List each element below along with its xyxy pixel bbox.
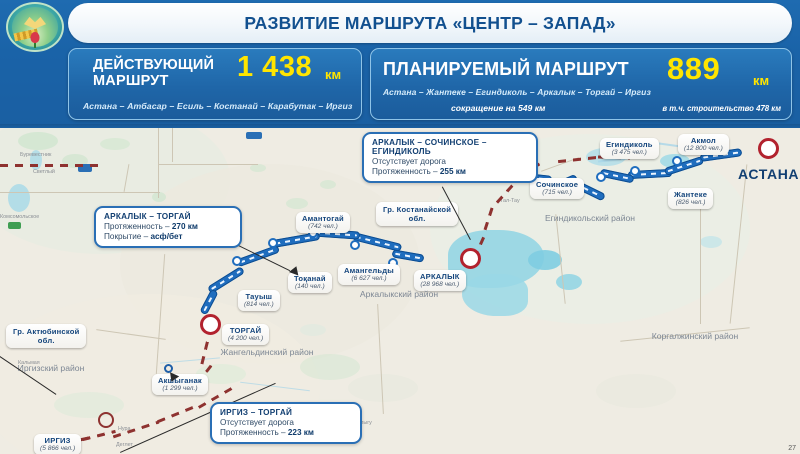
city-tag-amantogay: Амантогай (742 чел.): [296, 212, 350, 233]
node-route: [596, 172, 606, 182]
callout-line-1-value: 270 км: [172, 222, 198, 231]
existing-route-label: ДЕЙСТВУЮЩИЙ МАРШРУТ: [93, 57, 233, 89]
city-name: Амантогай: [302, 214, 344, 223]
region-label-arkalyk: Аркалыкский район: [354, 290, 444, 300]
lake: [700, 236, 722, 248]
vegetation-patch: [300, 354, 360, 380]
lake: [462, 274, 528, 316]
region-label-zhangeldy: Жангельдинский район: [212, 348, 322, 358]
secondary-road: [172, 124, 173, 162]
kazakhstan-emblem-icon: [6, 2, 64, 52]
vegetation-patch: [18, 132, 58, 150]
existing-route-value: 1 438: [237, 51, 312, 84]
region-name: Иргизский район: [18, 363, 85, 373]
callout-line-2: Протяженность – 223 км: [220, 428, 352, 437]
small-place-label: Тал-Тау: [500, 198, 520, 204]
city-population: (28 968 чел.): [420, 281, 460, 288]
page-number: 27: [788, 445, 796, 452]
region-name: Аркалыкский район: [360, 289, 438, 299]
secondary-road: [0, 192, 160, 193]
city-population: (1 299 чел.): [158, 385, 202, 392]
boundary-line-1: Гр. Актюбинской: [13, 327, 79, 336]
lake: [8, 184, 30, 212]
boundary-line-2: обл.: [13, 336, 79, 345]
node-irgiz: [98, 412, 114, 428]
city-name: Амангельды: [344, 266, 394, 275]
node-akshyganak: [164, 364, 173, 373]
planned-route-reduction: сокращение на 549 км: [451, 103, 545, 113]
route-segment-dashed: [0, 164, 58, 167]
vegetation-patch: [100, 138, 130, 150]
callout-line-1-prefix: Протяженность –: [104, 222, 172, 231]
boundary-tag-kostanay: Гр. Костанайской обл.: [376, 202, 458, 226]
boundary-tag-aktobe: Гр. Актюбинской обл.: [6, 324, 86, 348]
city-tag-torgay: ТОРГАЙ (4 200 чел.): [222, 324, 269, 345]
city-population: (4 200 чел.): [228, 335, 263, 342]
lake: [528, 250, 562, 270]
city-name: АРКАЛЫК: [420, 272, 460, 281]
city-tag-akshyganak: Акшыганак (1 299 чел.): [152, 374, 208, 395]
city-name: Акшыганак: [158, 376, 202, 385]
callout-line-2-value: 255 км: [440, 167, 466, 176]
node-route: [672, 156, 682, 166]
callout-line-1: Отсутствует дорога: [372, 157, 528, 166]
callout-line-2-value: 223 км: [288, 428, 314, 437]
planned-route-unit: км: [753, 73, 769, 88]
vegetation-patch: [286, 198, 308, 209]
planned-route-label: ПЛАНИРУЕМЫЙ МАРШРУТ: [383, 59, 629, 79]
city-population: (826 чел.): [674, 199, 707, 206]
city-population: (3 475 чел.): [606, 149, 653, 156]
node-torgay: [200, 314, 221, 335]
planned-route-value: 889: [667, 51, 720, 87]
small-place-label: Светлый: [33, 169, 55, 175]
city-name: Егиндиколь: [606, 140, 653, 149]
page-title-plate: РАЗВИТИЕ МАРШРУТА «ЦЕНТР – ЗАПАД»: [68, 3, 792, 43]
city-tag-tauysh: Тауыш (814 чел.): [238, 290, 280, 311]
planned-route-construction: в т.ч. строительство 478 км: [662, 104, 781, 113]
callout-title: АРКАЛЫК – ТОРГАЙ: [104, 212, 232, 221]
boundary-line-1: Гр. Костанайской: [383, 205, 451, 214]
city-tag-arkalyk: АРКАЛЫК (28 968 чел.): [414, 270, 466, 291]
city-tag-egindikol: Егиндиколь (3 475 чел.): [600, 138, 659, 159]
header-banner: РАЗВИТИЕ МАРШРУТА «ЦЕНТР – ЗАПАД» ДЕЙСТВ…: [0, 0, 800, 128]
callout-line-2: Покрытие – асф/бет: [104, 232, 232, 241]
route-segment-dashed: [60, 164, 100, 167]
city-tag-irgiz: ИРГИЗ (5 866 чел.): [34, 434, 81, 454]
callout-title: ИРГИЗ – ТОРГАЙ: [220, 408, 352, 417]
city-tag-akmol: Акмол (12 800 чел.): [678, 134, 729, 155]
callout-line-1: Протяженность – 270 км: [104, 222, 232, 231]
node-arkalyk: [460, 248, 481, 269]
city-name: Тоқанай: [294, 274, 326, 283]
city-population: (5 866 чел.): [40, 445, 75, 452]
capital-label: АСТАНА: [738, 166, 799, 182]
city-population: (742 чел.): [302, 223, 344, 230]
lake: [556, 274, 582, 290]
page-title: РАЗВИТИЕ МАРШРУТА «ЦЕНТР – ЗАПАД»: [244, 13, 615, 34]
region-label-egindikol: Егиндикольский район: [540, 214, 640, 224]
terrain-patch: [300, 324, 326, 336]
region-name: Жангельдинский район: [221, 347, 314, 357]
vegetation-patch: [152, 192, 166, 202]
callout-line-2-value: асф/бет: [150, 232, 182, 241]
city-name: ИРГИЗ: [40, 436, 75, 445]
callout-line-2-prefix: Покрытие –: [104, 232, 150, 241]
secondary-road: [158, 164, 258, 165]
city-name: ТОРГАЙ: [228, 326, 263, 335]
city-population: (814 чел.): [244, 301, 274, 308]
node-egindikol: [630, 166, 640, 176]
callout-line-1: Отсутствует дорога: [220, 418, 352, 427]
secondary-road: [700, 194, 701, 324]
city-population: (140 чел.): [294, 283, 326, 290]
existing-route-unit: км: [325, 67, 341, 82]
city-tag-amangeldy: Амангельды (6 627 чел.): [338, 264, 400, 285]
region-name: Егиндикольский район: [545, 213, 635, 223]
map-canvas: Буревестник Светлый Комсомольское Кальма…: [0, 124, 800, 454]
city-name: Сочинское: [536, 180, 578, 189]
city-tag-zhanteke: Жантеке (826 чел.): [668, 188, 713, 209]
callout-title-2: ЕГИНДИКОЛЬ: [372, 147, 528, 156]
existing-route-card: ДЕЙСТВУЮЩИЙ МАРШРУТ 1 438 км Астана – Ат…: [68, 48, 362, 120]
city-name: Тауыш: [244, 292, 274, 301]
node-astana: [758, 138, 779, 159]
terrain-patch: [596, 374, 676, 408]
region-label-korgalzhyn: Коргалжинский район: [640, 332, 750, 342]
node-tokanay: [268, 238, 278, 248]
secondary-road: [158, 124, 159, 198]
city-population: (715 чел.): [536, 189, 578, 196]
city-population: (12 800 чел.): [684, 145, 723, 152]
callout-line-2: Протяженность – 255 км: [372, 167, 528, 176]
callout-title: АРКАЛЫК – СОЧИНСКОЕ –: [372, 138, 528, 147]
small-place-label: Комсомольское: [0, 214, 39, 220]
city-name: Жантеке: [674, 190, 707, 199]
planned-route-card: ПЛАНИРУЕМЫЙ МАРШРУТ 889 км Астана – Жант…: [370, 48, 792, 120]
city-tag-sochinskoe: Сочинское (715 чел.): [530, 178, 584, 199]
emblem-tulip-icon: [31, 32, 40, 43]
vegetation-patch: [320, 180, 336, 189]
small-place-label: Буревестник: [20, 152, 51, 158]
callout-line-2-prefix: Протяженность –: [372, 167, 440, 176]
node-amangeldy: [350, 240, 360, 250]
city-population: (6 627 чел.): [344, 275, 394, 282]
road-shield-icon: [246, 132, 262, 139]
callout-irgiz-torgai: ИРГИЗ – ТОРГАЙ Отсутствует дорога Протяж…: [210, 402, 362, 444]
node-tauysh: [232, 256, 242, 266]
infographic-slide: Буревестник Светлый Комсомольское Кальма…: [0, 0, 800, 454]
planned-route-path: Астана – Жантеке – Егиндиколь – Аркалык …: [383, 87, 651, 97]
callout-line-2-prefix: Протяженность –: [220, 428, 288, 437]
boundary-line-2: обл.: [383, 214, 451, 223]
region-name: Коргалжинский район: [652, 331, 739, 341]
existing-route-path: Астана – Атбасар – Есиль – Костанай – Ка…: [83, 101, 352, 111]
city-tag-tokanay: Тоқанай (140 чел.): [288, 272, 332, 293]
callout-arkalyk-torgai: АРКАЛЫК – ТОРГАЙ Протяженность – 270 км …: [94, 206, 242, 248]
road-shield-icon: [8, 222, 21, 229]
callout-arkalyk-sochinskoe-egindikol: АРКАЛЫК – СОЧИНСКОЕ – ЕГИНДИКОЛЬ Отсутст…: [362, 132, 538, 183]
vegetation-patch: [250, 164, 266, 172]
vegetation-patch: [54, 392, 124, 418]
city-name: Акмол: [684, 136, 723, 145]
